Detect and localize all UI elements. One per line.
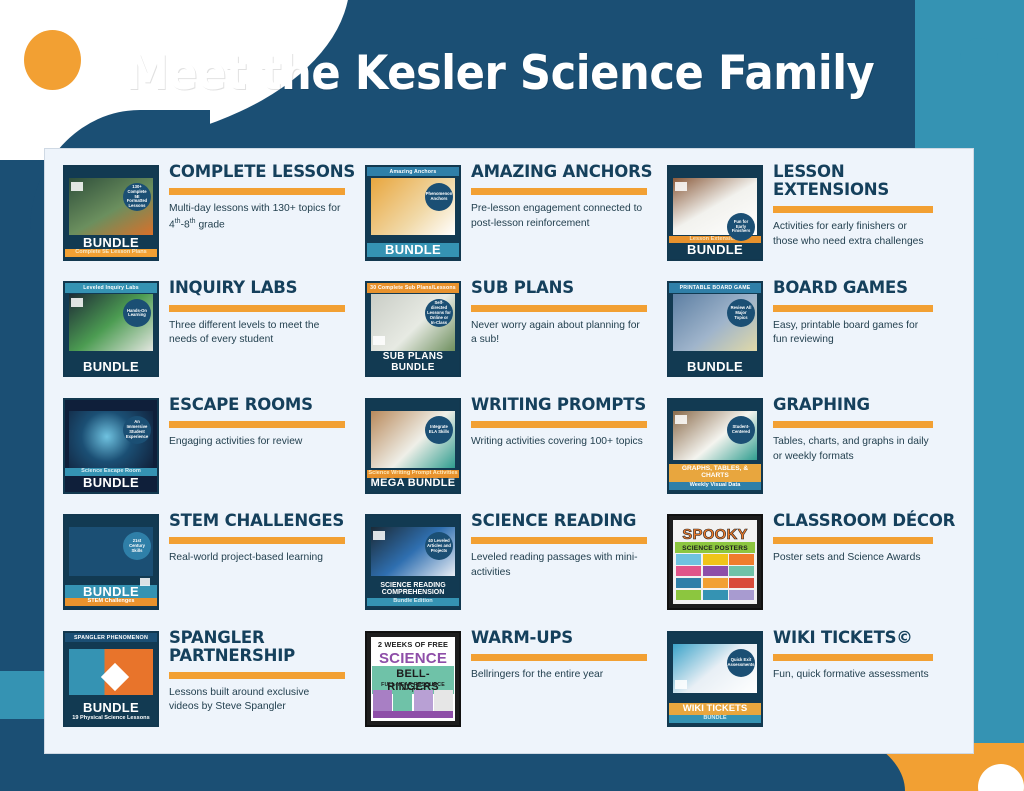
product-description: Never worry again about planning for a s… xyxy=(471,319,643,348)
thumbnail-top-tag xyxy=(65,400,157,404)
product-thumbnail: An Immersive Student Experience Science … xyxy=(63,398,159,494)
product-description: Three different levels to meet the needs… xyxy=(169,319,341,348)
product-text: GRAPHING Tables, charts, and graphs in d… xyxy=(773,394,965,464)
thumbnail-badge: Quick Exit Assessments xyxy=(727,649,755,677)
product-thumbnail: SPOOKY SCIENCE POSTERS xyxy=(667,514,763,610)
thumbnail-top-tag xyxy=(367,516,459,520)
orange-divider xyxy=(169,305,345,312)
thumbnail-subhead: SCIENCE POSTERS xyxy=(675,542,755,553)
product-text: SPANGLER PARTNERSHIP Lessons built aroun… xyxy=(169,627,361,716)
orange-divider xyxy=(169,421,345,428)
thumbnail-footer: BUNDLE Complete 5E Lesson Plans xyxy=(65,236,157,260)
thumbnail-footer-main: BUNDLE xyxy=(65,476,157,490)
thumbnail-badge: Integrate ELA Skills xyxy=(425,416,453,444)
thumbnail-footer: Science Writing Prompt Activities MEGA B… xyxy=(367,470,459,491)
teal-circle-top-right-icon xyxy=(960,38,998,76)
thumbnail-footer: BUNDLE xyxy=(367,243,459,259)
product-description: Tables, charts, and graphs in daily or w… xyxy=(773,435,933,464)
thumbnail-footer-sub: STEM Challenges xyxy=(65,598,157,606)
product-item-wiki-tickets[interactable]: Quick Exit Assessments WIKI TICKETS BUND… xyxy=(667,627,965,743)
product-description: Lessons built around exclusive videos by… xyxy=(169,686,341,715)
product-title: LESSON EXTENSIONS xyxy=(773,163,965,199)
thumbnail-badge: Student-Centered xyxy=(727,416,755,444)
product-thumbnail: 130+ Complete 5E Formatted Lessons BUNDL… xyxy=(63,165,159,261)
product-item-amazing-anchors[interactable]: Phenomenon Anchors Amazing Anchors BUNDL… xyxy=(365,161,663,277)
product-title: WRITING PROMPTS xyxy=(471,396,663,414)
product-item-graphing[interactable]: Student-Centered GRAPHS, TABLES, & CHART… xyxy=(667,394,965,510)
thumbnail-footer: GRAPHS, TABLES, & CHARTS Weekly Visual D… xyxy=(669,464,761,492)
thumbnail-footer: Science Escape Room BUNDLE xyxy=(65,468,157,492)
thumbnail-badge: Self-directed Lessons for Online or In-C… xyxy=(425,299,453,327)
orange-divider xyxy=(169,537,345,544)
orange-divider xyxy=(773,421,933,428)
product-description: Leveled reading passages with mini-activ… xyxy=(471,551,643,580)
product-title: INQUIRY LABS xyxy=(169,279,361,297)
product-thumbnail: Hands-On Learning Leveled Inquiry Labs B… xyxy=(63,281,159,377)
thumbnail-footer-main: BUNDLE xyxy=(65,585,157,599)
product-thumbnail: SPANGLER PHENOMENON BUNDLE 19 Physical S… xyxy=(63,631,159,727)
orange-divider xyxy=(471,188,647,195)
thumbnail-top-tag xyxy=(669,400,761,404)
product-text: INQUIRY LABS Three different levels to m… xyxy=(169,277,361,347)
product-item-science-reading[interactable]: 40 Leveled Articles and Projects SCIENCE… xyxy=(365,510,663,626)
thumbnail-top-tag xyxy=(669,167,761,171)
product-description: Poster sets and Science Awards xyxy=(773,551,933,566)
kesler-logo-icon xyxy=(140,578,150,586)
thumbnail-footer-main: BUNDLE xyxy=(669,360,761,374)
product-item-spangler-partnership[interactable]: SPANGLER PHENOMENON BUNDLE 19 Physical S… xyxy=(63,627,361,743)
product-item-writing-prompts[interactable]: Integrate ELA Skills Science Writing Pro… xyxy=(365,394,663,510)
thumbnail-footer: WIKI TICKETS BUNDLE xyxy=(669,703,761,725)
product-description: Multi-day lessons with 130+ topics for 4… xyxy=(169,202,341,233)
kesler-logo-icon xyxy=(675,415,687,424)
orange-divider xyxy=(773,537,933,544)
product-item-stem-challenges[interactable]: 21st Century Skills BUNDLE STEM Challeng… xyxy=(63,510,361,626)
thumbnail-footer-sub: Weekly Visual Data xyxy=(669,482,761,490)
kesler-logo-icon xyxy=(71,298,83,307)
kesler-logo-icon xyxy=(675,182,687,191)
product-title: STEM CHALLENGES xyxy=(169,512,361,530)
thumbnail-footer-main: BUNDLE xyxy=(65,236,157,250)
product-description: Engaging activities for review xyxy=(169,435,341,450)
thumbnail-footer: BUNDLE STEM Challenges xyxy=(65,585,157,609)
product-text: ESCAPE ROOMS Engaging activities for rev… xyxy=(169,394,361,450)
product-title: BOARD GAMES xyxy=(773,279,965,297)
thumbnail-top-tag xyxy=(65,167,157,171)
product-thumbnail: 21st Century Skills BUNDLE STEM Challeng… xyxy=(63,514,159,610)
orange-divider xyxy=(471,305,647,312)
thumbnail-badge: 130+ Complete 5E Formatted Lessons xyxy=(123,183,151,211)
product-item-sub-plans[interactable]: Self-directed Lessons for Online or In-C… xyxy=(365,277,663,393)
thumbnail-footer-main: BUNDLE xyxy=(65,360,157,374)
product-text: COMPLETE LESSONS Multi-day lessons with … xyxy=(169,161,361,233)
orange-divider xyxy=(471,654,647,661)
thumbnail-badge: Fun for Early Finishers xyxy=(727,213,755,241)
thumbnail-footer: SCIENCE READING COMPREHENSION Bundle Edi… xyxy=(367,580,459,609)
product-item-board-games[interactable]: Review All Major Topics PRINTABLE BOARD … xyxy=(667,277,965,393)
product-thumbnail: Self-directed Lessons for Online or In-C… xyxy=(365,281,461,377)
thumbnail-top-tag: 30 Complete Sub Plans/Lessons xyxy=(367,283,459,292)
orange-divider xyxy=(471,537,647,544)
product-description: Fun, quick formative assessments xyxy=(773,668,933,683)
product-description: Activities for early finishers or those … xyxy=(773,220,933,249)
thumbnail-footer: SUB PLANS BUNDLE xyxy=(367,352,459,375)
kesler-logo-icon xyxy=(675,680,687,689)
product-title: SCIENCE READING xyxy=(471,512,663,530)
product-title: CLASSROOM DÉCOR xyxy=(773,512,965,530)
product-description: Easy, printable board games for fun revi… xyxy=(773,319,933,348)
thumbnail-footer: BUNDLE xyxy=(65,360,157,376)
kesler-logo-icon xyxy=(373,531,385,540)
thumbnail-footer-main: BUNDLE xyxy=(65,701,157,715)
thumbnail-footer: BUNDLE xyxy=(669,360,761,376)
product-title: ESCAPE ROOMS xyxy=(169,396,361,414)
products-panel: 130+ Complete 5E Formatted Lessons BUNDL… xyxy=(44,148,974,754)
thumbnail-footer: BUNDLE 19 Physical Science Lessons xyxy=(65,701,157,725)
thumbnail-footer-sub: 19 Physical Science Lessons xyxy=(65,715,157,723)
product-text: AMAZING ANCHORS Pre-lesson engagement co… xyxy=(471,161,663,231)
thumbnail-badge: Phenomenon Anchors xyxy=(425,183,453,211)
thumbnail-top-tag: SPANGLER PHENOMENON xyxy=(65,633,157,643)
product-title: SPANGLER PARTNERSHIP xyxy=(169,629,361,665)
product-text: LESSON EXTENSIONS Activities for early f… xyxy=(773,161,965,250)
thumbnail-footer-main: GRAPHS, TABLES, & CHARTS xyxy=(669,464,761,482)
product-item-escape-rooms[interactable]: An Immersive Student Experience Science … xyxy=(63,394,361,510)
orange-divider xyxy=(169,188,345,195)
thumbnail-top-tag xyxy=(65,516,157,520)
product-text: SCIENCE READING Leveled reading passages… xyxy=(471,510,663,580)
orange-divider xyxy=(773,206,933,213)
thumbnail-footer-main: MEGA BUNDLE xyxy=(367,478,459,490)
product-title: SUB PLANS xyxy=(471,279,663,297)
product-title: WARM-UPS xyxy=(471,629,663,647)
product-title: GRAPHING xyxy=(773,396,965,414)
thumbnail-top-tag: Leveled Inquiry Labs xyxy=(65,283,157,292)
thumbnail-footer-main: SUB PLANS BUNDLE xyxy=(367,352,459,373)
product-text: WRITING PROMPTS Writing activities cover… xyxy=(471,394,663,450)
product-title: COMPLETE LESSONS xyxy=(169,163,361,181)
product-thumbnail: Student-Centered GRAPHS, TABLES, & CHART… xyxy=(667,398,763,494)
page-title: Meet the Kesler Science Family xyxy=(40,46,960,101)
thumbnail-top-tag xyxy=(367,400,459,404)
product-thumbnail: Review All Major Topics PRINTABLE BOARD … xyxy=(667,281,763,377)
product-title: AMAZING ANCHORS xyxy=(471,163,663,181)
product-description: Pre-lesson engagement connected to post-… xyxy=(471,202,643,231)
orange-divider xyxy=(169,672,345,679)
thumbnail-footer-main: WIKI TICKETS xyxy=(669,703,761,715)
thumbnail-footer-main: SCIENCE READING COMPREHENSION xyxy=(367,580,459,599)
product-text: STEM CHALLENGES Real-world project-based… xyxy=(169,510,361,566)
product-text: CLASSROOM DÉCOR Poster sets and Science … xyxy=(773,510,965,566)
product-text: WARM-UPS Bellringers for the entire year xyxy=(471,627,663,683)
thumbnail-footer-sub: BUNDLE xyxy=(669,715,761,723)
thumbnail-badge: 21st Century Skills xyxy=(123,532,151,560)
orange-divider xyxy=(471,421,647,428)
thumbnail-top-tag: Amazing Anchors xyxy=(367,167,459,176)
products-grid: 130+ Complete 5E Formatted Lessons BUNDL… xyxy=(45,149,973,753)
orange-divider xyxy=(773,654,933,661)
product-description: Bellringers for the entire year xyxy=(471,668,643,683)
thumbnail-top-tag: PRINTABLE BOARD GAME xyxy=(669,283,761,292)
product-thumbnail: 40 Leveled Articles and Projects SCIENCE… xyxy=(365,514,461,610)
product-item-warm-ups[interactable]: 2 WEEKS OF FREE SCIENCE BELL-RINGERS FUL… xyxy=(365,627,663,743)
product-thumbnail: Fun for Early Finishers Lesson Extension… xyxy=(667,165,763,261)
product-description: Writing activities covering 100+ topics xyxy=(471,435,643,450)
product-item-complete-lessons[interactable]: 130+ Complete 5E Formatted Lessons BUNDL… xyxy=(63,161,361,277)
thumbnail-footer-main: BUNDLE xyxy=(669,243,761,257)
thumbnail-headline: SPOOKY xyxy=(675,523,755,544)
kesler-logo-icon xyxy=(71,182,83,191)
poster-thumb-grid xyxy=(676,554,754,600)
thumbnail-badge: 40 Leveled Articles and Projects xyxy=(425,532,453,560)
product-text: SUB PLANS Never worry again about planni… xyxy=(471,277,663,347)
product-thumbnail: Phenomenon Anchors Amazing Anchors BUNDL… xyxy=(365,165,461,261)
product-text: WIKI TICKETS© Fun, quick formative asses… xyxy=(773,627,965,683)
product-thumbnail: Integrate ELA Skills Science Writing Pro… xyxy=(365,398,461,494)
product-title: WIKI TICKETS© xyxy=(773,629,965,647)
thumbnail-footer-sub: Bundle Edition xyxy=(367,598,459,606)
thumbnail-top-tag xyxy=(669,633,761,637)
product-thumbnail: Quick Exit Assessments WIKI TICKETS BUND… xyxy=(667,631,763,727)
thumbnail-footer-sub: Complete 5E Lesson Plans xyxy=(65,249,157,257)
product-item-classroom-decor[interactable]: SPOOKY SCIENCE POSTERS CLASSROOM DÉCOR P… xyxy=(667,510,965,626)
product-description: Real-world project-based learning xyxy=(169,551,341,566)
orange-divider xyxy=(773,305,933,312)
product-thumbnail: 2 WEEKS OF FREE SCIENCE BELL-RINGERS FUL… xyxy=(365,631,461,727)
product-item-inquiry-labs[interactable]: Hands-On Learning Leveled Inquiry Labs B… xyxy=(63,277,361,393)
kesler-logo-icon xyxy=(373,336,385,345)
poster-canvas: Meet the Kesler Science Family 130+ Comp… xyxy=(0,0,1024,791)
product-text: BOARD GAMES Easy, printable board games … xyxy=(773,277,965,347)
product-item-lesson-extensions[interactable]: Fun for Early Finishers Lesson Extension… xyxy=(667,161,965,277)
thumbnail-badge: An Immersive Student Experience xyxy=(123,416,151,444)
thumbnail-footer-main: BUNDLE xyxy=(367,243,459,257)
